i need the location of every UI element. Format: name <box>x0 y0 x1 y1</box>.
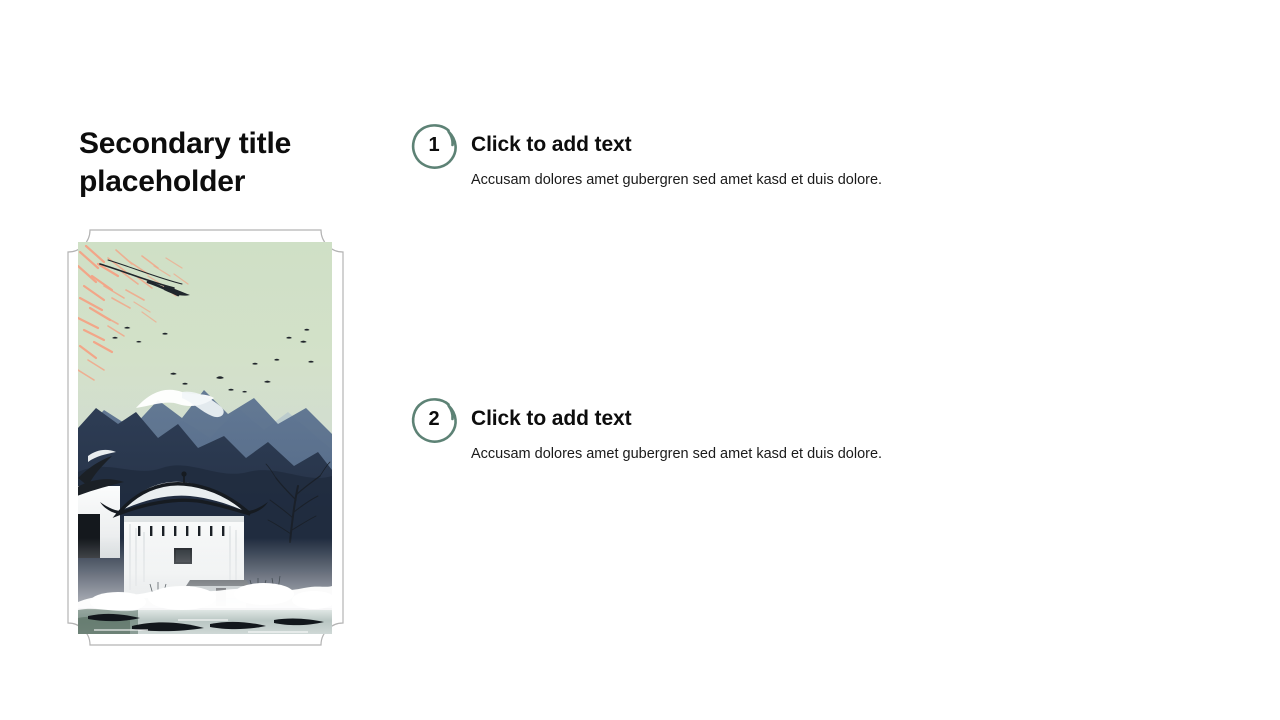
chinese-ink-wash-landscape-image <box>78 242 332 634</box>
artwork-container <box>78 242 332 634</box>
number-circle-1: 1 <box>408 120 460 172</box>
page-title: Secondary title placeholder <box>79 125 329 200</box>
bullet-text-1: Click to add text Accusam dolores amet g… <box>471 120 1091 191</box>
number-circle-2: 2 <box>408 394 460 446</box>
bullet-body-2[interactable]: Accusam dolores amet gubergren sed amet … <box>471 431 1091 465</box>
slide-canvas: Secondary title placeholder <box>0 0 1280 720</box>
bullet-text-2: Click to add text Accusam dolores amet g… <box>471 394 1091 465</box>
number-label-2: 2 <box>408 394 460 446</box>
bullet-body-1[interactable]: Accusam dolores amet gubergren sed amet … <box>471 157 1091 191</box>
bullet-heading-1[interactable]: Click to add text <box>471 120 1091 157</box>
number-label-1: 1 <box>408 120 460 172</box>
bullet-heading-2[interactable]: Click to add text <box>471 394 1091 431</box>
left-column: Secondary title placeholder <box>79 125 379 200</box>
picture-frame[interactable] <box>68 230 343 645</box>
